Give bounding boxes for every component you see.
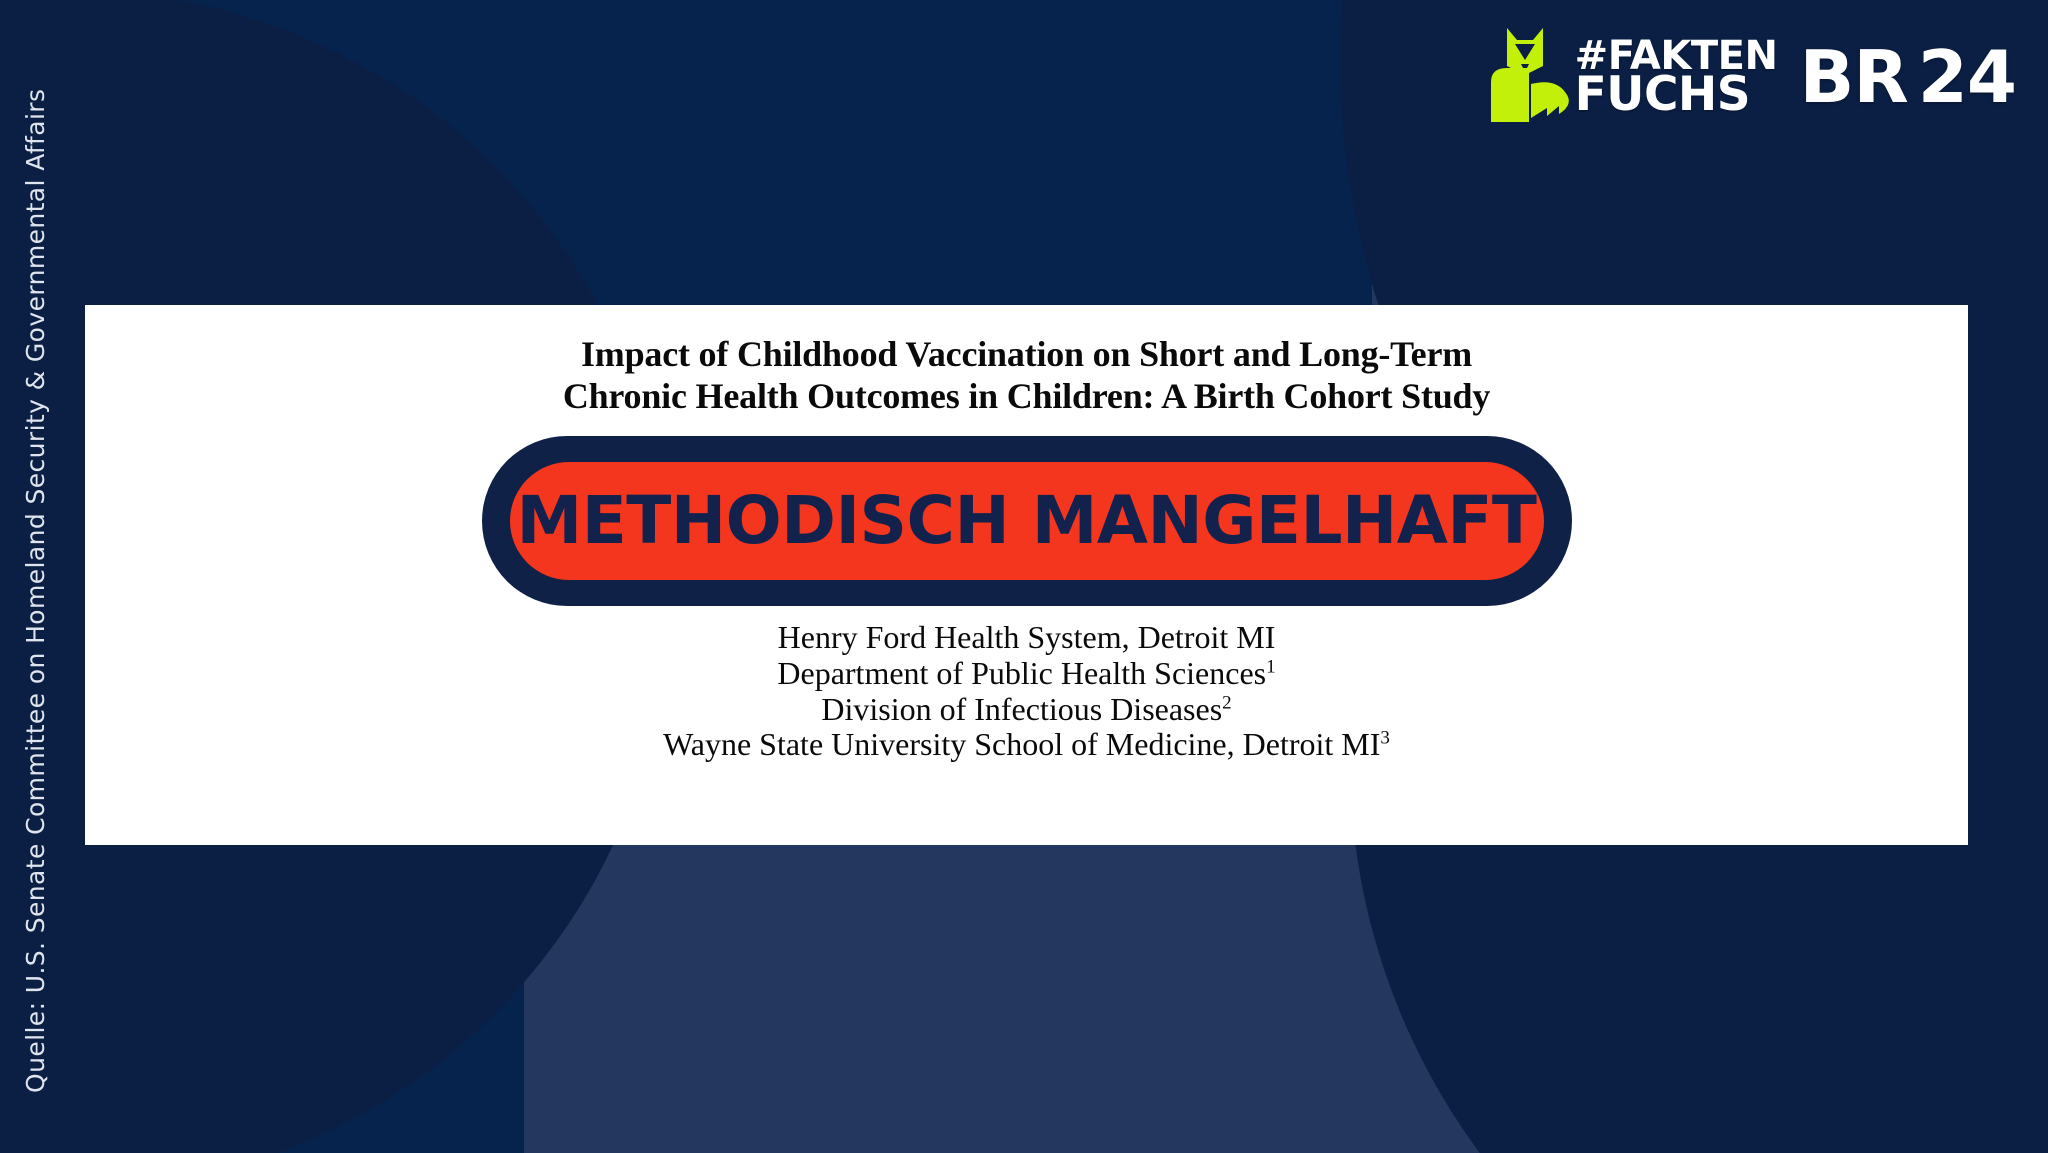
- paper-title-line-2: Chronic Health Outcomes in Children: A B…: [467, 375, 1587, 417]
- affiliation-text: Division of Infectious Diseases: [821, 691, 1222, 727]
- affiliation-superscript: 2: [1222, 692, 1232, 713]
- status-badge: METHODISCH MANGELHAFT: [517, 488, 1537, 554]
- brand-lockup: #FAKTEN FUCHS BR 24: [1485, 22, 2016, 132]
- list-item: Division of Infectious Diseases2: [85, 692, 1968, 728]
- br24-logo: BR 24: [1799, 41, 2016, 113]
- faktenfuchs-fuchs-line: FUCHS: [1575, 74, 1778, 115]
- faktenfuchs-wordmark: #FAKTEN FUCHS: [1575, 39, 1778, 116]
- list-item: Department of Public Health Sciences1: [85, 656, 1968, 692]
- br24-br-text: BR: [1799, 41, 1907, 113]
- verdict-badge-container: METHODISCH MANGELHAFT: [85, 436, 1968, 606]
- affiliation-text: Department of Public Health Sciences: [777, 655, 1266, 691]
- content-card: Impact of Childhood Vaccination on Short…: [85, 305, 1968, 845]
- paper-title-line-1: Impact of Childhood Vaccination on Short…: [467, 333, 1587, 375]
- source-credit: Quelle: U.S. Senate Committee on Homelan…: [0, 0, 70, 1153]
- br24-number-text: 24: [1918, 41, 2016, 113]
- page-title: Impact of Childhood Vaccination on Short…: [467, 333, 1587, 418]
- verdict-badge: METHODISCH MANGELHAFT: [482, 436, 1572, 606]
- affiliation-list: Henry Ford Health System, Detroit MI Dep…: [85, 620, 1968, 763]
- affiliation-text: Henry Ford Health System, Detroit MI: [778, 619, 1276, 655]
- affiliation-superscript: 3: [1380, 728, 1390, 749]
- affiliation-superscript: 1: [1266, 656, 1276, 677]
- list-item: Henry Ford Health System, Detroit MI: [85, 620, 1968, 656]
- affiliation-text: Wayne State University School of Medicin…: [663, 726, 1380, 762]
- list-item: Wayne State University School of Medicin…: [85, 727, 1968, 763]
